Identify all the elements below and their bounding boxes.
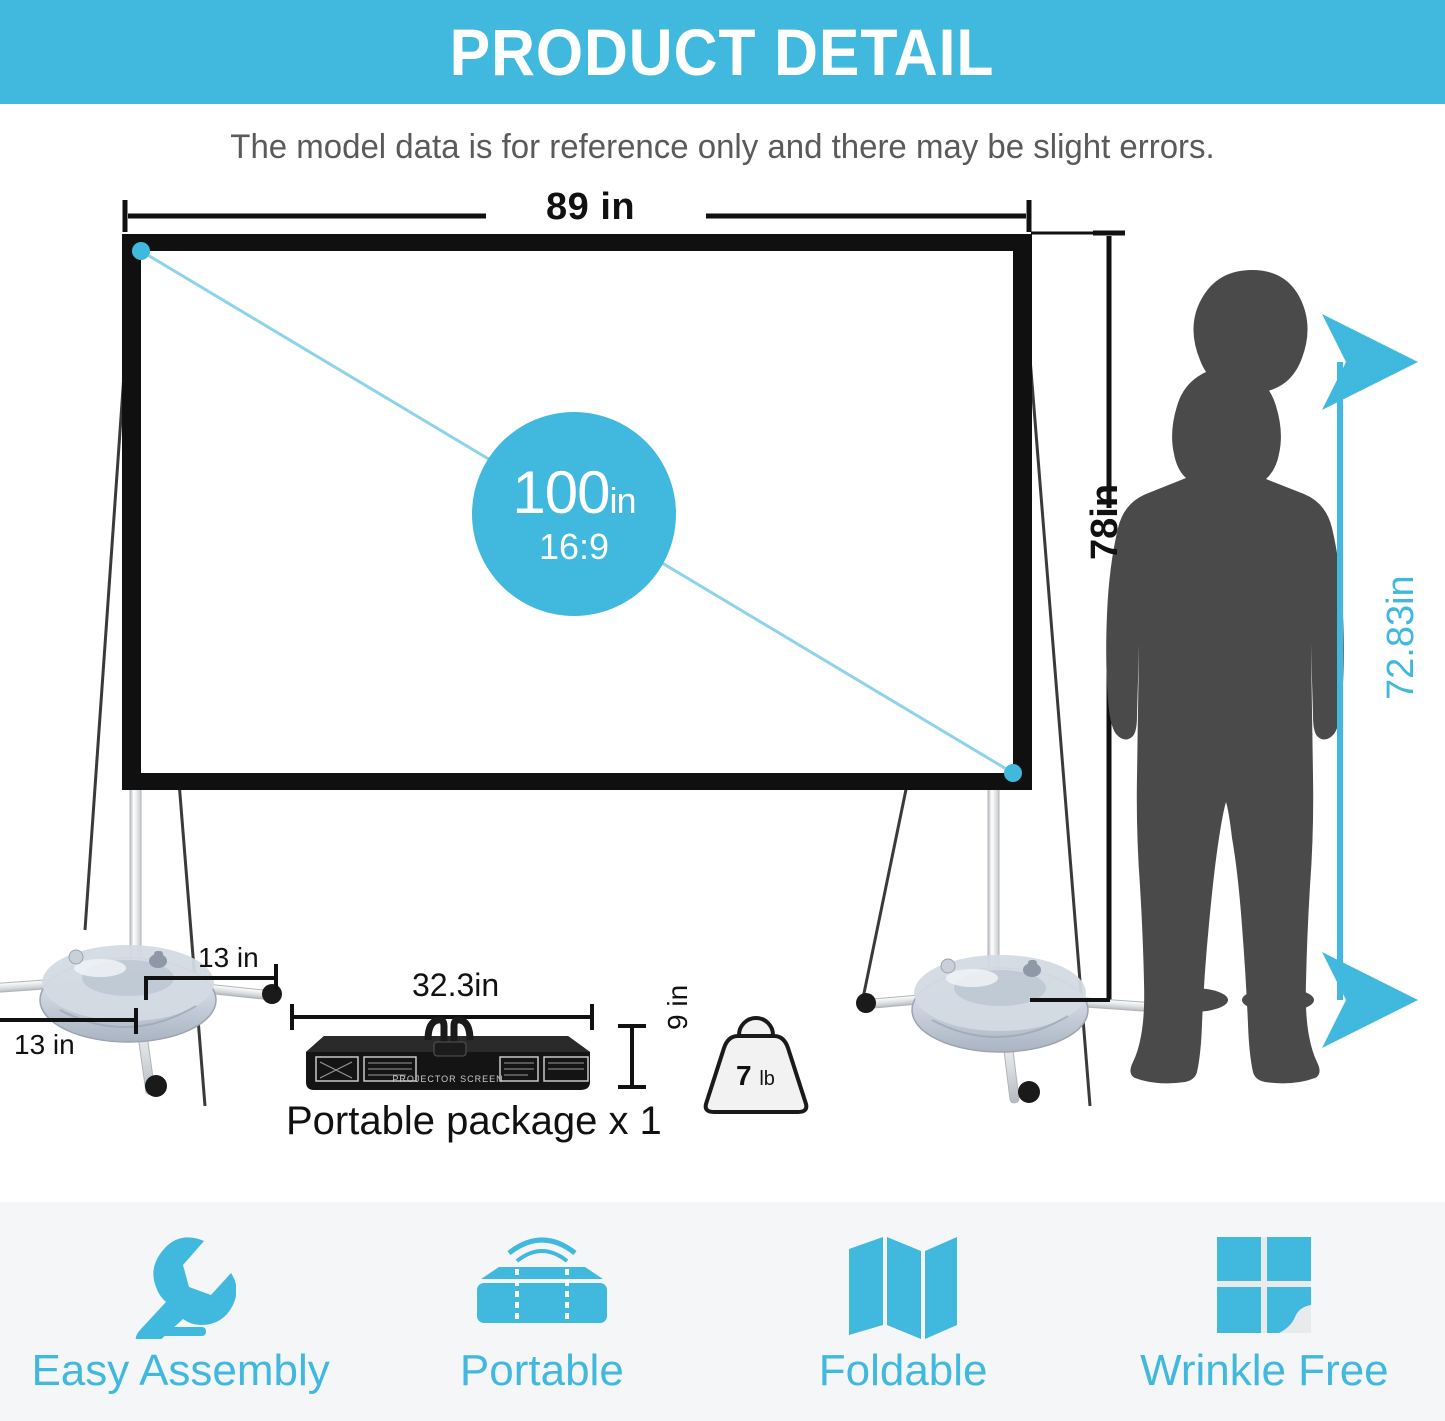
package-caption: Portable package x 1 (286, 1101, 662, 1141)
feature-item-foldable: Foldable (723, 1202, 1084, 1421)
screen-size-badge: 100in 16:9 (472, 412, 676, 616)
badge-aspect-ratio: 16:9 (539, 529, 609, 565)
feature-label: Foldable (819, 1349, 988, 1393)
badge-size-line: 100in (512, 463, 635, 523)
base-depth-label: 13 in (14, 1031, 75, 1059)
weight-unit: lb (759, 1068, 775, 1090)
package-width-label: 32.3in (412, 969, 499, 1001)
weight-label: 7 lb (736, 1062, 775, 1090)
wrench-icon (126, 1231, 236, 1339)
fabric-grid-icon (1209, 1231, 1319, 1339)
stand-poles (130, 786, 999, 976)
feature-label: Easy Assembly (31, 1349, 329, 1393)
svg-text:PROJECTOR SCREEN: PROJECTOR SCREEN (392, 1074, 503, 1084)
duffel-bag-icon (467, 1231, 617, 1339)
feature-item-wrinkle-free: Wrinkle Free (1084, 1202, 1445, 1421)
water-weight-bag-right (912, 955, 1088, 1052)
man-silhouette (1106, 270, 1344, 1083)
feature-item-easy-assembly: Easy Assembly (0, 1202, 361, 1421)
screen-width-label: 89 in (546, 188, 635, 226)
feature-label: Portable (460, 1349, 624, 1393)
base-right (856, 955, 1150, 1103)
feature-label: Wrinkle Free (1140, 1349, 1389, 1393)
water-weight-bag-left (40, 945, 216, 1042)
height-dimension-leaders (1031, 233, 1109, 1003)
package-height-label: 9 in (664, 985, 692, 1030)
person-height-label: 72.83in (1382, 575, 1420, 700)
badge-size-unit: in (610, 480, 636, 521)
feature-strip: Easy Assembly Portable Fold (0, 1202, 1445, 1421)
carry-bag-package: PROJECTOR SCREEN (292, 1004, 646, 1090)
feature-item-portable: Portable (361, 1202, 722, 1421)
folded-map-icon (843, 1231, 963, 1339)
screen-height-label: 78in (1086, 484, 1124, 560)
weight-value: 7 (736, 1060, 752, 1091)
base-width-label: 13 in (198, 944, 259, 972)
badge-size-value: 100 (512, 459, 609, 526)
